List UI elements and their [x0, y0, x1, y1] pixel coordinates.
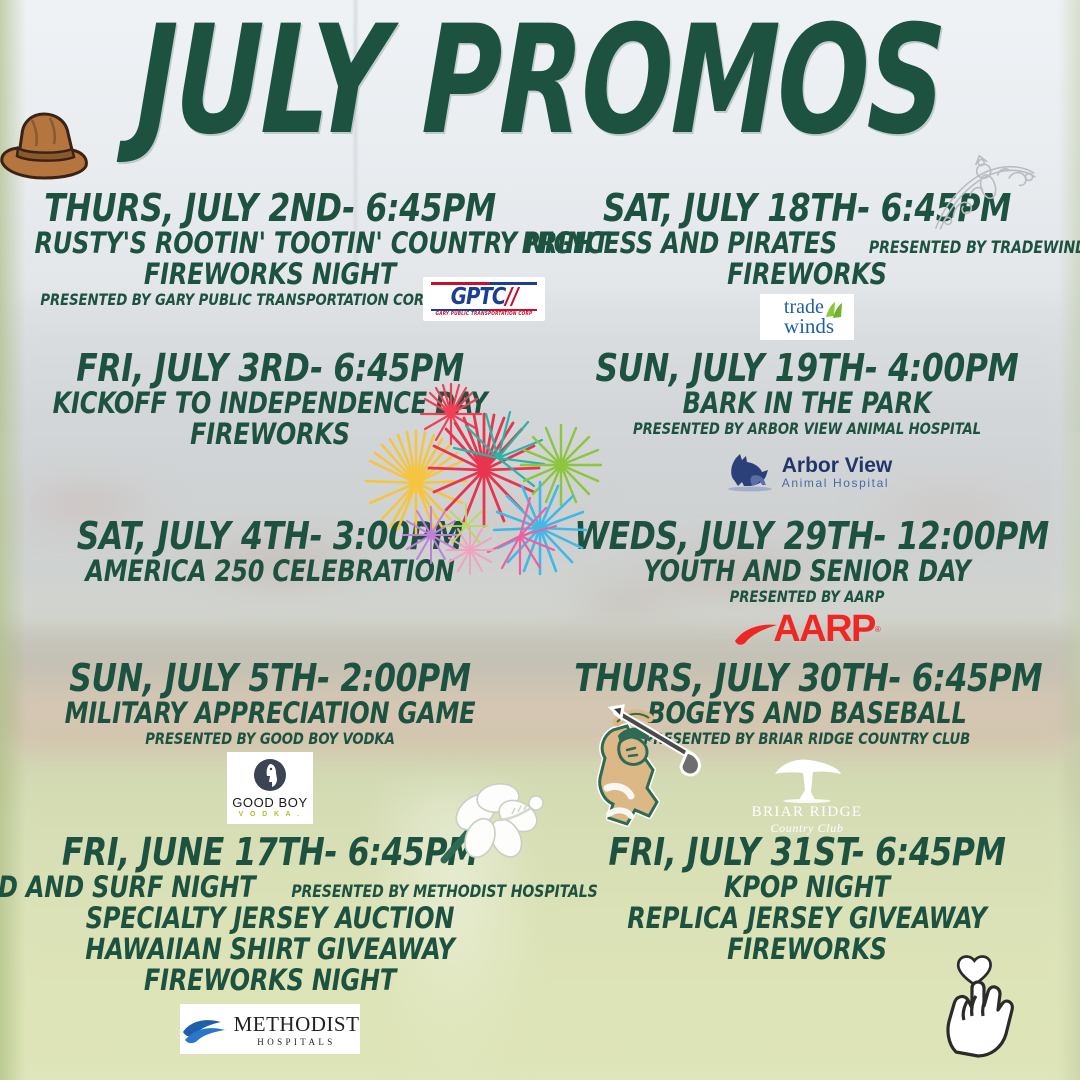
promo-presented-by: PRESENTED BY ARBOR VIEW ANIMAL HOSPITAL: [574, 419, 1040, 438]
promo-item: FRI, JUNE 17TH- 6:45PM SAND AND SURF NIG…: [0, 832, 540, 1054]
promo-item: WEDS, JULY 29TH- 12:00PM YOUTH AND SENIO…: [540, 516, 1080, 648]
methodist-hospitals-logo: METHODIST HOSPITALS: [180, 1004, 360, 1054]
promo-date: SAT, JULY 4TH- 3:00PM: [34, 516, 505, 556]
methodist-wordmark: METHODIST: [234, 1012, 360, 1037]
arbor-view-wordmark: Arbor View: [782, 455, 892, 477]
good-boy-dog-icon: [250, 758, 290, 794]
promo-line: KICKOFF TO INDEPENDENCE DAY: [34, 388, 505, 419]
tradewinds-logo: trade winds: [760, 294, 854, 340]
promo-presented-by: PRESENTED BY GOOD BOY VODKA: [34, 729, 505, 748]
aarp-logo: AARP ®: [733, 610, 881, 648]
promo-line: AMERICA 250 CELEBRATION: [34, 556, 505, 587]
promo-line: YOUTH AND SENIOR DAY: [574, 556, 1040, 587]
promo-item: SAT, JULY 4TH- 3:00PM AMERICA 250 CELEBR…: [0, 516, 540, 587]
aarp-wordmark: AARP: [773, 610, 875, 648]
promo-line: MILITARY APPRECIATION GAME: [34, 698, 505, 729]
promo-line: BARK IN THE PARK: [574, 388, 1040, 419]
promo-item: FRI, JULY 31ST- 6:45PM KPOP NIGHT REPLIC…: [540, 832, 1080, 965]
promo-inline-row: SAND AND SURF NIGHT PRESENTED BY METHODI…: [14, 872, 526, 903]
arbor-view-tagline: Animal Hospital: [782, 477, 889, 490]
promo-item: SUN, JULY 5TH- 2:00PM MILITARY APPRECIAT…: [0, 658, 540, 824]
promo-date: SAT, JULY 18TH- 6:45PM: [574, 188, 1040, 228]
aarp-registered-mark: ®: [875, 625, 881, 634]
page-title: JULY PROMOS: [134, 6, 945, 156]
good-boy-tagline: V O D K A .: [239, 811, 302, 818]
promo-line: FIREWORKS NIGHT: [34, 259, 505, 290]
promo-line: FIREWORKS: [34, 419, 505, 450]
promo-date: THURS, JULY 2ND- 6:45PM: [34, 188, 505, 228]
promo-inline-row: PRINCESS AND PIRATES PRESENTED BY TRADEW…: [554, 228, 1060, 259]
promo-date: FRI, JULY 3RD- 6:45PM: [34, 348, 505, 388]
good-boy-vodka-logo: GOOD BOY V O D K A .: [227, 752, 313, 824]
promo-line: PRINCESS AND PIRATES: [521, 228, 836, 259]
arbor-view-logo: Arbor View Animal Hospital: [722, 452, 892, 492]
briar-ridge-wordmark: BRIAR RIDGE: [752, 804, 863, 821]
promo-date: SUN, JULY 5TH- 2:00PM: [34, 658, 505, 698]
promo-date: WEDS, JULY 29TH- 12:00PM: [574, 516, 1040, 556]
methodist-tagline: HOSPITALS: [257, 1037, 335, 1047]
promo-item: SUN, JULY 19TH- 4:00PM BARK IN THE PARK …: [540, 348, 1080, 492]
arbor-view-pet-icon: [722, 452, 776, 492]
promo-line: REPLICA JERSEY GIVEAWAY: [574, 903, 1040, 934]
promo-line: FIREWORKS: [574, 934, 1040, 965]
promo-line: SPECIALTY JERSEY AUCTION: [34, 903, 505, 934]
promo-item: THURS, JULY 30TH- 6:45PM BOGEYS AND BASE…: [540, 658, 1080, 836]
promo-presented-by: PRESENTED BY BRIAR RIDGE COUNTRY CLUB: [574, 729, 1040, 748]
tradewinds-leaf-icon: [824, 301, 846, 323]
promo-item: SAT, JULY 18TH- 6:45PM PRINCESS AND PIRA…: [540, 188, 1080, 340]
promo-line: SAND AND SURF NIGHT: [0, 872, 256, 903]
briar-ridge-tree-icon: [769, 756, 845, 804]
promo-line: RUSTY'S ROOTIN' TOOTIN' COUNTRY NIGHT: [34, 228, 505, 259]
promo-date: THURS, JULY 30TH- 6:45PM: [574, 658, 1040, 698]
promo-date: FRI, JUNE 17TH- 6:45PM: [34, 832, 505, 872]
promo-date: FRI, JULY 31ST- 6:45PM: [574, 832, 1040, 872]
promo-presented-by: PRESENTED BY TRADEWINDS: [868, 239, 1080, 258]
page-title-container: JULY PROMOS: [0, 6, 1080, 156]
promo-line: FIREWORKS NIGHT: [34, 965, 505, 996]
promo-line: FIREWORKS: [574, 259, 1040, 290]
promo-line: KPOP NIGHT: [574, 872, 1040, 903]
promo-item: FRI, JULY 3RD- 6:45PM KICKOFF TO INDEPEN…: [0, 348, 540, 450]
promo-line: HAWAIIAN SHIRT GIVEAWAY: [34, 934, 505, 965]
good-boy-wordmark: GOOD BOY: [232, 795, 308, 810]
promo-presented-by: PRESENTED BY GARY PUBLIC TRANSPORTATION …: [34, 290, 505, 309]
promo-item: THURS, JULY 2ND- 6:45PM RUSTY'S ROOTIN' …: [0, 188, 540, 309]
promo-date: SUN, JULY 19TH- 4:00PM: [574, 348, 1040, 388]
promo-presented-by: PRESENTED BY AARP: [574, 587, 1040, 606]
promo-line: BOGEYS AND BASEBALL: [574, 698, 1040, 729]
methodist-wave-icon: [181, 1012, 227, 1046]
briar-ridge-logo: BRIAR RIDGE Country Club: [752, 756, 863, 836]
